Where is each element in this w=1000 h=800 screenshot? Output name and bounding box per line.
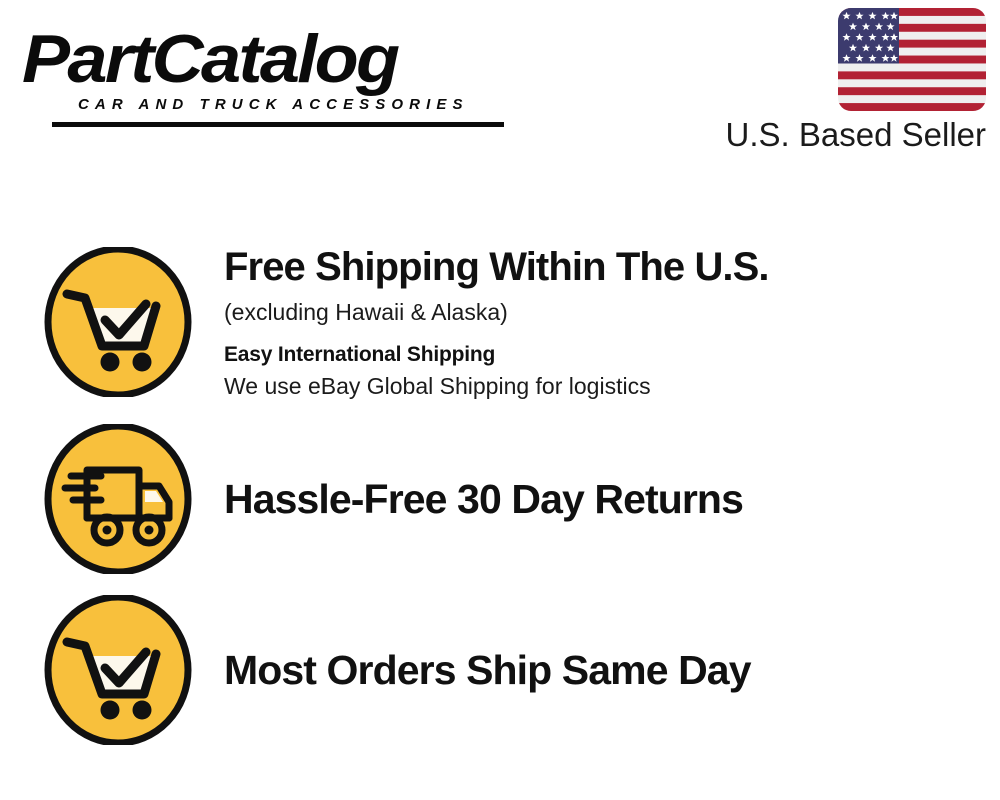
feature-note: (excluding Hawaii & Alaska) [224,297,980,327]
brand-tagline: CAR AND TRUCK ACCESSORIES [78,96,469,114]
feature-text: Hassle-Free 30 Day Returns [224,474,1000,524]
feature-icon-wrap [42,247,194,397]
feature-sub-title: Easy International Shipping [224,341,980,368]
feature-sub-note: We use eBay Global Shipping for logistic… [224,371,980,401]
feature-icon-wrap [42,595,194,745]
feature-row: Most Orders Ship Same Day [0,585,1000,755]
feature-title: Free Shipping Within The U.S. [224,243,980,291]
us-flag-icon [838,8,986,111]
feature-row: Free Shipping Within The U.S. (excluding… [0,232,1000,412]
seller-badge-label: U.S. Based Seller [708,115,986,155]
banner-header: PartCatalog CAR AND TRUCK ACCESSORIES [0,0,1000,175]
brand-underline [52,122,504,127]
feature-title: Most Orders Ship Same Day [224,645,980,695]
brand-logo[interactable]: PartCatalog CAR AND TRUCK ACCESSORIES [22,22,492,117]
feature-icon-wrap [42,424,194,574]
shopping-cart-check-icon [43,247,193,397]
feature-title: Hassle-Free 30 Day Returns [224,474,980,524]
us-based-seller-badge: U.S. Based Seller [708,8,986,158]
feature-text: Most Orders Ship Same Day [224,645,1000,695]
feature-list: Free Shipping Within The U.S. (excluding… [0,232,1000,755]
promo-banner: PartCatalog CAR AND TRUCK ACCESSORIES [0,0,1000,800]
shopping-cart-check-icon [43,595,193,745]
brand-wordmark: PartCatalog [22,22,520,96]
feature-text: Free Shipping Within The U.S. (excluding… [224,243,1000,401]
feature-row: Hassle-Free 30 Day Returns [0,412,1000,585]
delivery-truck-icon [43,424,193,574]
